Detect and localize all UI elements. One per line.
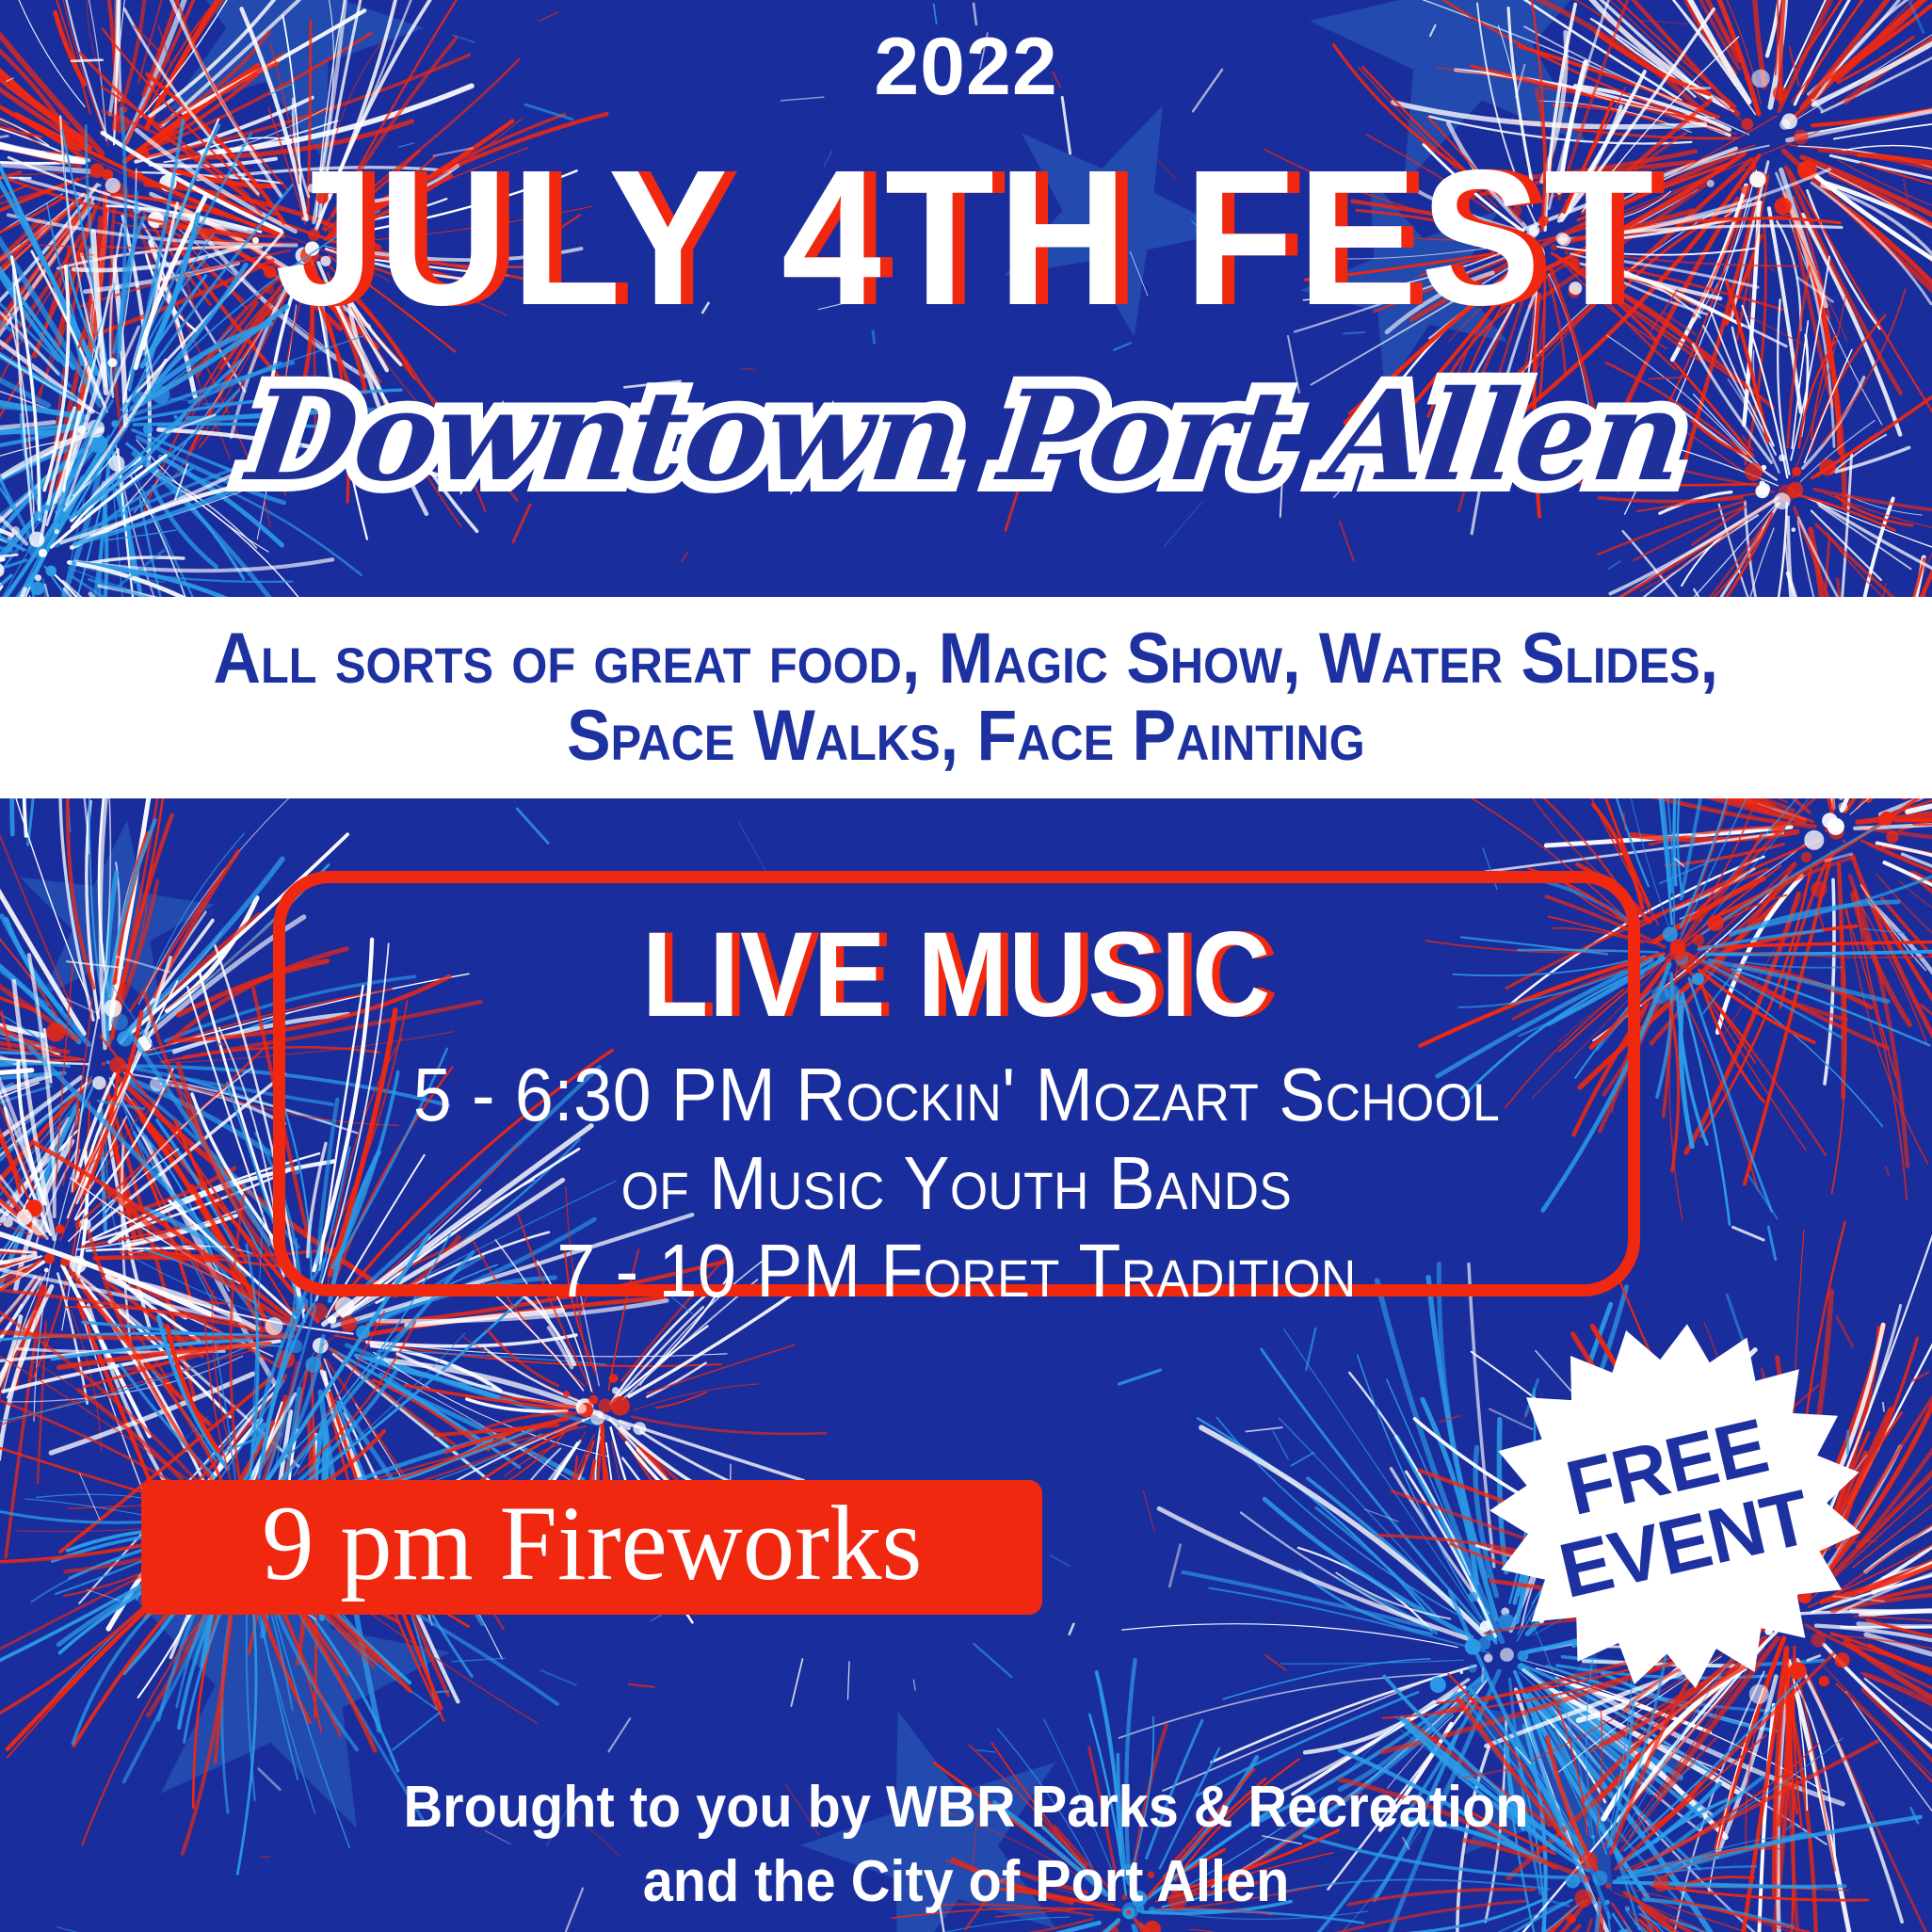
year-label: 2022 [0,26,1932,107]
live-music-heading: LIVE MUSIC [352,915,1560,1036]
attractions-line-2: Space Walks, Face Painting [214,698,1719,775]
attractions-banner: All sorts of great food, Magic Show, Wat… [0,597,1932,798]
live-music-schedule: 5 - 6:30 PM Rockin' Mozart School of Mus… [339,1051,1574,1315]
location-subtitle: Downtown Port Allen [242,375,1690,499]
free-event-badge: FREE EVENT [1478,1318,1874,1695]
poster-canvas: 2022 JULY 4TH FEST Downtown Port Allen A… [0,0,1932,1932]
header-section: 2022 JULY 4TH FEST Downtown Port Allen [0,0,1932,597]
schedule-line-2: of Music Youth Bands [339,1139,1574,1228]
fireworks-time-chip: 9 pm Fireworks [141,1480,1042,1615]
attractions-text: All sorts of great food, Magic Show, Wat… [179,620,1753,775]
sponsor-line-1: Brought to you by WBR Parks & Recreation [68,1770,1864,1844]
page-title: JULY 4TH FEST [68,141,1864,334]
sponsor-footer: Brought to you by WBR Parks & Recreation… [0,1770,1932,1920]
sponsor-line-2: and the City of Port Allen [68,1844,1864,1919]
attractions-line-1: All sorts of great food, Magic Show, Wat… [214,620,1719,698]
live-music-box: LIVE MUSIC 5 - 6:30 PM Rockin' Mozart Sc… [273,871,1640,1296]
starburst-icon [1478,1318,1874,1695]
subtitle-wrapper: Downtown Port Allen [0,375,1932,499]
schedule-line-1: 5 - 6:30 PM Rockin' Mozart School [339,1051,1574,1139]
schedule-line-3: 7 - 10 PM Foret Tradition [339,1227,1574,1315]
fireworks-time-label: 9 pm Fireworks [262,1490,922,1597]
